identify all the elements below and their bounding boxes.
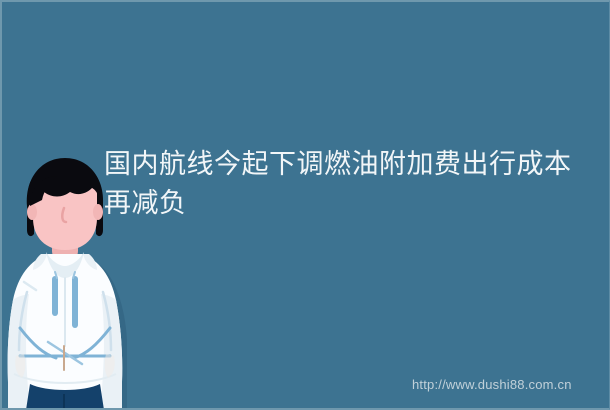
headline-text: 国内航线今起下调燃油附加费出行成本再减负 <box>104 145 589 223</box>
ear-right <box>93 204 103 220</box>
poster-image: 国内航线今起下调燃油附加费出行成本再减负 http://www.dushi88.… <box>0 0 610 410</box>
watermark-url: http://www.dushi88.com.cn <box>412 377 572 392</box>
